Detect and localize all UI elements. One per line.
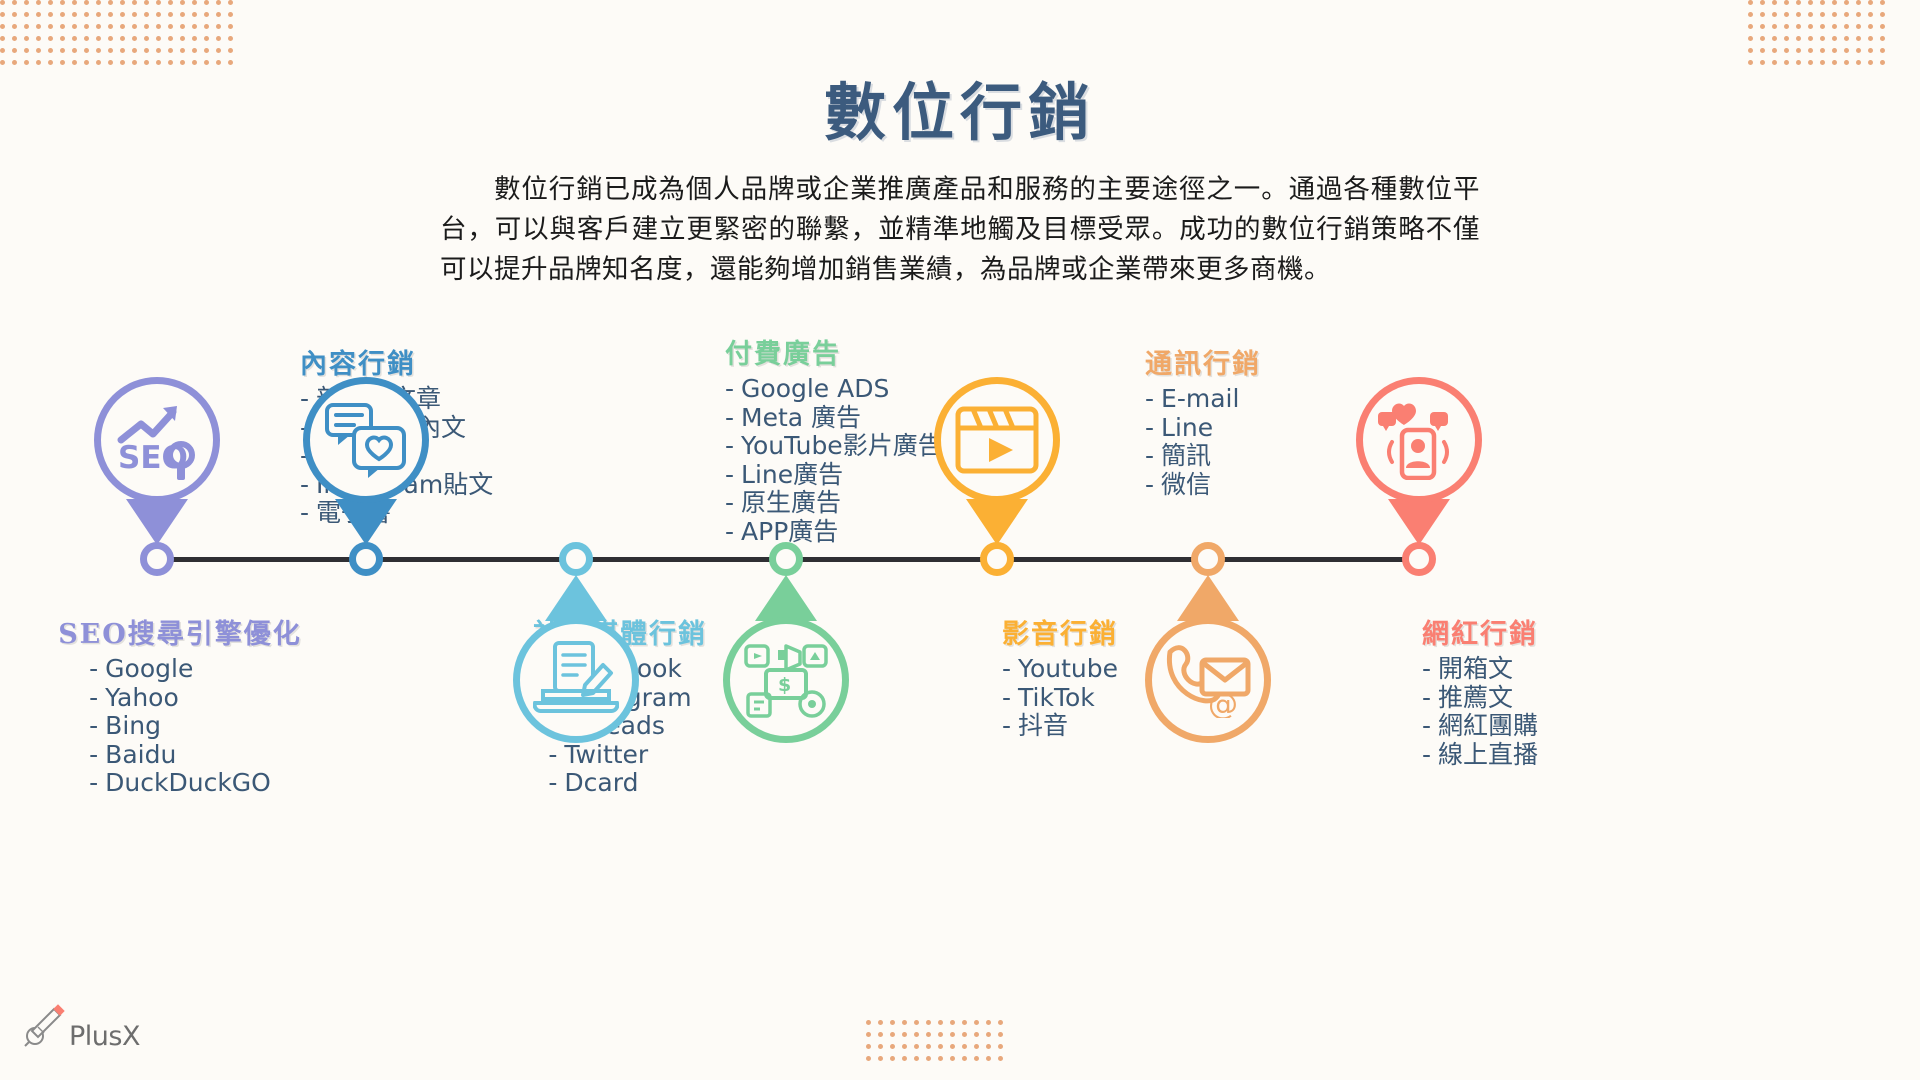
- bullet-dash: -: [1422, 740, 1431, 769]
- pin-tail-messaging: [1177, 575, 1239, 621]
- pin-tail-content: [335, 499, 397, 545]
- timeline-node-dot-social[interactable]: [559, 542, 593, 576]
- timeline-pin-seo[interactable]: SEO: [94, 377, 220, 545]
- list-item-label: Line: [1161, 413, 1213, 442]
- pin-tail-video: [966, 499, 1028, 545]
- page-title: 數位行銷: [0, 62, 1920, 152]
- speech-bubbles-heart-icon: [303, 377, 429, 503]
- pin-tail-seo: [126, 499, 188, 545]
- list-item: -Baidu: [89, 741, 271, 770]
- category-title-influencer: 網紅行銷: [1345, 612, 1615, 651]
- category-title-messaging: 通訊行銷: [1145, 342, 1405, 381]
- list-item: -開箱文: [1422, 655, 1538, 684]
- list-item-label: DuckDuckGO: [105, 768, 271, 797]
- bullet-dash: -: [1145, 384, 1154, 413]
- list-item: -Youtube: [1002, 655, 1118, 684]
- list-item: -Bing: [89, 712, 271, 741]
- video-play-clapper-icon: [934, 377, 1060, 503]
- bullet-dash: -: [89, 683, 98, 712]
- timeline-pin-messaging[interactable]: @: [1145, 575, 1271, 743]
- bullet-dash: -: [1002, 711, 1011, 740]
- list-item-label: YouTube影片廣告: [741, 431, 943, 460]
- timeline-node-dot-influencer[interactable]: [1402, 542, 1436, 576]
- laptop-document-pen-icon: [513, 617, 639, 743]
- category-list-seo: -Google-Yahoo-Bing-Baidu-DuckDuckGO: [89, 655, 271, 798]
- category-list-influencer: -開箱文-推薦文-網紅團購-線上直播: [1422, 655, 1538, 769]
- list-item-label: Yahoo: [105, 683, 179, 712]
- bullet-dash: -: [89, 740, 98, 769]
- list-item-label: 網紅團購: [1438, 711, 1538, 740]
- bullet-dash: -: [1145, 413, 1154, 442]
- bullet-dash: -: [725, 431, 734, 460]
- list-item: -線上直播: [1422, 741, 1538, 770]
- list-item-label: 線上直播: [1438, 740, 1538, 769]
- list-item-label: TikTok: [1018, 683, 1095, 712]
- list-item: -DuckDuckGO: [89, 769, 271, 798]
- timeline-pin-content[interactable]: [303, 377, 429, 545]
- category-title-paid: 付費廣告: [725, 332, 985, 371]
- timeline-node-dot-paid[interactable]: [769, 542, 803, 576]
- brand-logo: PlusX: [24, 1003, 140, 1052]
- bullet-dash: -: [89, 711, 98, 740]
- brand-logo-text: PlusX: [69, 1021, 140, 1052]
- list-item-label: E-mail: [1161, 384, 1239, 413]
- phone-envelope-at-icon: @: [1145, 617, 1271, 743]
- bullet-dash: -: [548, 740, 557, 769]
- category-block-influencer: 網紅行銷-開箱文-推薦文-網紅團購-線上直播: [1345, 612, 1615, 769]
- list-item: -Dcard: [548, 769, 691, 798]
- list-item-label: 抖音: [1018, 711, 1068, 740]
- list-item: -Google: [89, 655, 271, 684]
- decorative-dot-grid-bottom: [866, 1020, 1010, 1068]
- timeline-node-dot-messaging[interactable]: [1191, 542, 1225, 576]
- bullet-dash: -: [1422, 683, 1431, 712]
- bullet-dash: -: [89, 654, 98, 683]
- list-item-label: Baidu: [105, 740, 176, 769]
- list-item-label: 開箱文: [1438, 654, 1513, 683]
- list-item-label: Meta 廣告: [741, 403, 861, 432]
- category-title-seo: SEO搜尋引擎優化: [45, 612, 315, 651]
- pin-tail-influencer: [1388, 499, 1450, 545]
- list-item: -網紅團購: [1422, 712, 1538, 741]
- bullet-dash: -: [1422, 711, 1431, 740]
- ads-megaphone-screen-icon: $: [723, 617, 849, 743]
- timeline-node-dot-content[interactable]: [349, 542, 383, 576]
- bullet-dash: -: [1002, 683, 1011, 712]
- list-item-label: Line廣告: [741, 460, 843, 489]
- bullet-dash: -: [1145, 441, 1154, 470]
- intro-paragraph: 數位行銷已成為個人品牌或企業推廣產品和服務的主要途徑之一。通過各種數位平台，可以…: [440, 170, 1480, 290]
- phone-person-hearts-icon: [1356, 377, 1482, 503]
- header: 數位行銷 數位行銷已成為個人品牌或企業推廣產品和服務的主要途徑之一。通過各種數位…: [0, 0, 1920, 290]
- bullet-dash: -: [89, 768, 98, 797]
- bullet-dash: -: [548, 768, 557, 797]
- list-item-label: 簡訊: [1161, 441, 1211, 470]
- bullet-dash: -: [1422, 654, 1431, 683]
- list-item: -抖音: [1002, 712, 1118, 741]
- list-item: -推薦文: [1422, 684, 1538, 713]
- svg-text:@: @: [1208, 687, 1238, 718]
- bullet-dash: -: [725, 403, 734, 432]
- category-block-seo: SEO搜尋引擎優化-Google-Yahoo-Bing-Baidu-DuckDu…: [45, 612, 315, 798]
- list-item-label: 微信: [1161, 470, 1211, 499]
- category-list-video: -Youtube-TikTok-抖音: [1002, 655, 1118, 741]
- list-item-label: 原生廣告: [741, 488, 841, 517]
- list-item: -TikTok: [1002, 684, 1118, 713]
- list-item-label: Twitter: [564, 740, 648, 769]
- timeline-pin-paid[interactable]: $: [723, 575, 849, 743]
- timeline-pin-video[interactable]: [934, 377, 1060, 545]
- timeline-pin-influencer[interactable]: [1356, 377, 1482, 545]
- magnifier-pencil-icon: [24, 1003, 66, 1052]
- bullet-dash: -: [1145, 470, 1154, 499]
- bullet-dash: -: [1002, 654, 1011, 683]
- list-item-label: Google ADS: [741, 374, 889, 403]
- pin-tail-paid: [755, 575, 817, 621]
- timeline-node-dot-video[interactable]: [980, 542, 1014, 576]
- list-item-label: 推薦文: [1438, 683, 1513, 712]
- seo-chart-magnifier-icon: SEO: [94, 377, 220, 503]
- list-item-label: Google: [105, 654, 193, 683]
- timeline-node-dot-seo[interactable]: [140, 542, 174, 576]
- list-item: -Yahoo: [89, 684, 271, 713]
- timeline-pin-social[interactable]: [513, 575, 639, 743]
- bullet-dash: -: [725, 460, 734, 489]
- bullet-dash: -: [725, 517, 734, 546]
- list-item-label: Dcard: [564, 768, 638, 797]
- list-item-label: Bing: [105, 711, 161, 740]
- bullet-dash: -: [725, 374, 734, 403]
- list-item-label: Youtube: [1018, 654, 1118, 683]
- list-item: -Twitter: [548, 741, 691, 770]
- svg-text:$: $: [778, 674, 791, 696]
- pin-tail-social: [545, 575, 607, 621]
- bullet-dash: -: [725, 488, 734, 517]
- category-title-content: 內容行銷: [300, 342, 560, 381]
